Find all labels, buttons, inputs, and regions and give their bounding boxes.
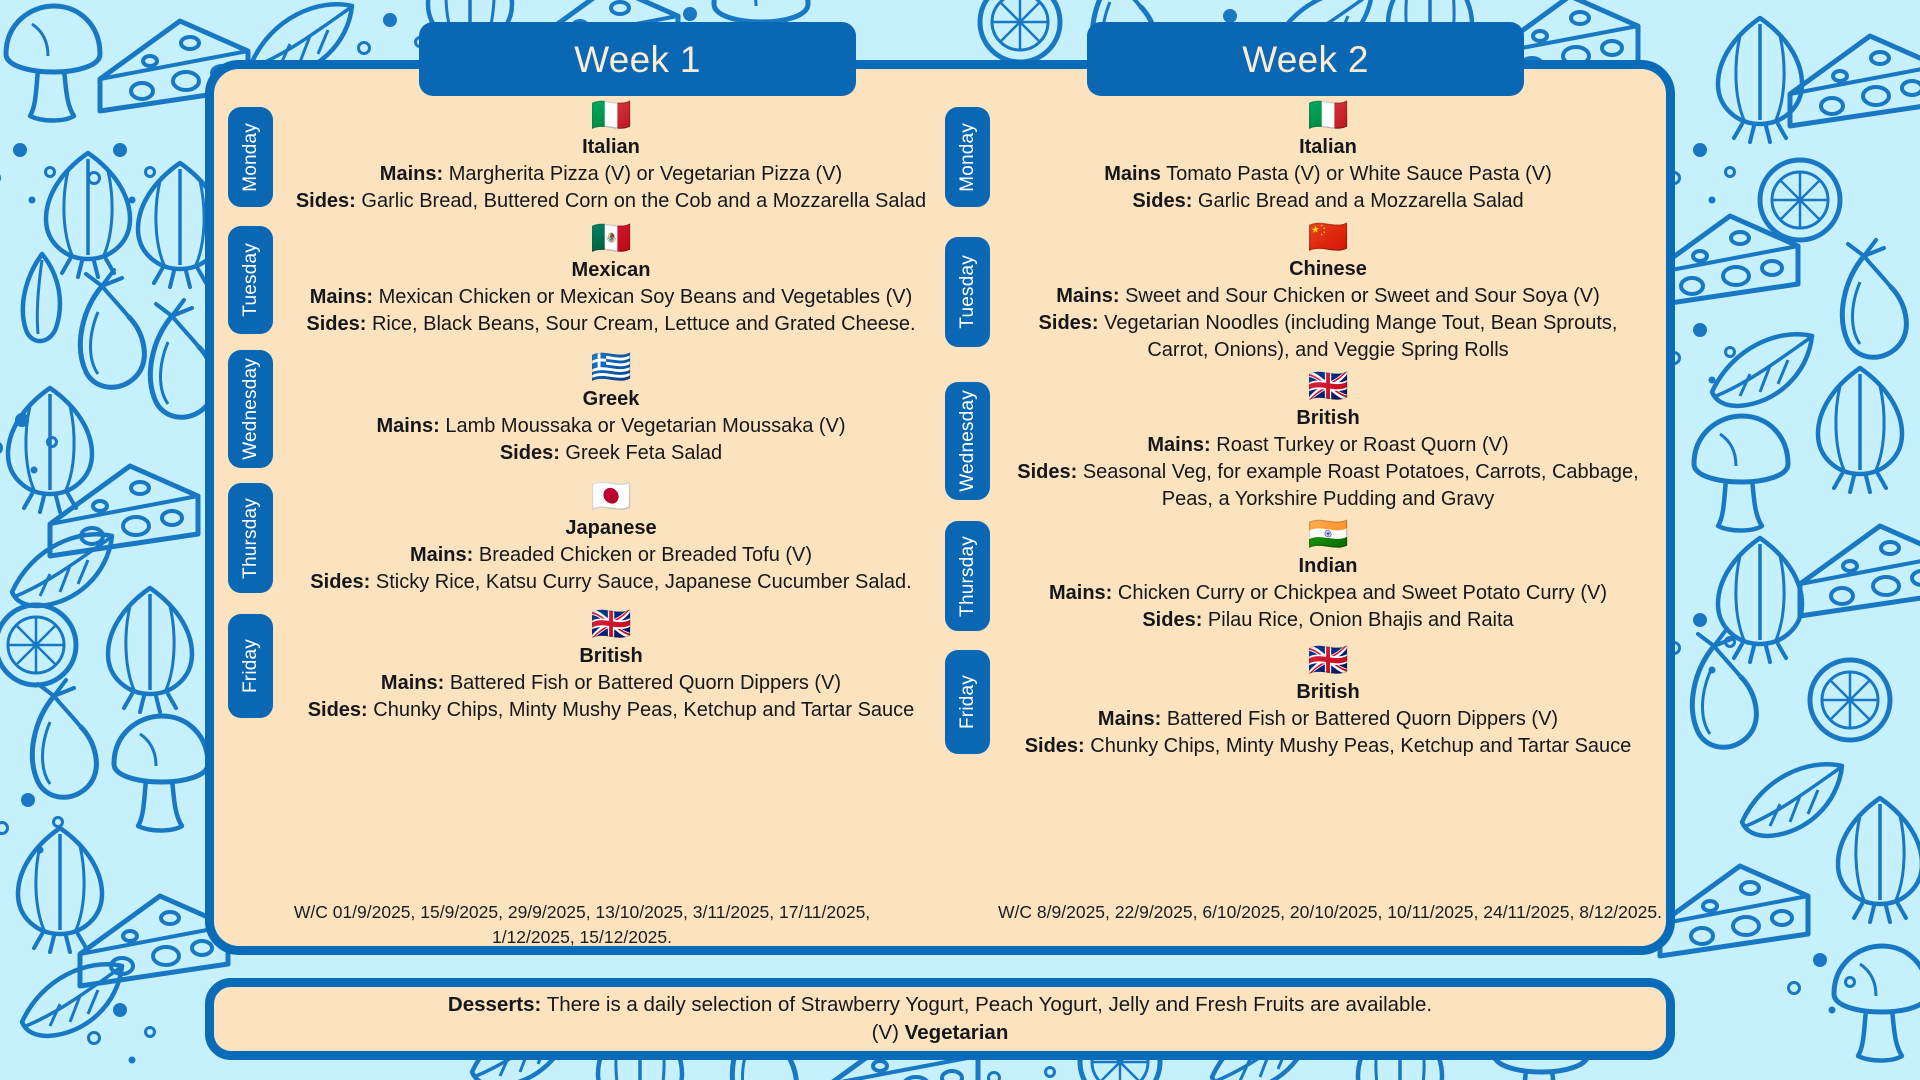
day-content-monday: 🇮🇹 Italian Mains: Margherita Pizza (V) o…: [279, 98, 943, 215]
cuisine-name: Italian: [289, 134, 933, 161]
cuisine-name: British: [1006, 405, 1650, 432]
week-1-column: Monday 🇮🇹 Italian Mains: Margherita Pizz…: [228, 98, 943, 978]
sides-label: Sides:: [1017, 461, 1077, 483]
desserts-label: Desserts:: [448, 993, 541, 1016]
sides-label: Sides:: [500, 442, 560, 464]
sides-value: Seasonal Veg, for example Roast Potatoes…: [1083, 461, 1639, 510]
flag-united-kingdom-icon: 🇬🇧: [1006, 643, 1650, 678]
sides-line: Sides: Chunky Chips, Minty Mushy Peas, K…: [289, 697, 933, 724]
week-2-dates: W/C 8/9/2025, 22/9/2025, 6/10/2025, 20/1…: [985, 900, 1675, 925]
mains-label: Mains:: [1049, 582, 1112, 604]
day-tab-thursday[interactable]: Thursday: [945, 521, 990, 631]
desserts-banner: Desserts: There is a daily selection of …: [205, 978, 1675, 1060]
mains-line: Mains: Roast Turkey or Roast Quorn (V): [1006, 432, 1650, 459]
sides-value: Garlic Bread, Buttered Corn on the Cob a…: [361, 190, 926, 212]
flag-japan-icon: 🇯🇵: [289, 479, 933, 514]
sides-value: Greek Feta Salad: [565, 442, 722, 464]
day-tab-label: Thursday: [240, 498, 262, 579]
week-1-header-tab[interactable]: Week 1: [419, 22, 856, 96]
mains-value: Lamb Moussaka or Vegetarian Moussaka (V): [445, 415, 845, 437]
flag-united-kingdom-icon: 🇬🇧: [1006, 369, 1650, 404]
desserts-text: There is a daily selection of Strawberry…: [547, 993, 1432, 1016]
flag-china-icon: 🇨🇳: [1006, 220, 1650, 255]
cuisine-name: Greek: [289, 386, 933, 413]
week-2-header-tab[interactable]: Week 2: [1087, 22, 1524, 96]
mains-label: Mains:: [381, 672, 444, 694]
week-1-title: Week 1: [574, 41, 701, 78]
sides-value: Rice, Black Beans, Sour Cream, Lettuce a…: [372, 313, 916, 335]
day-row-wednesday: Wednesday 🇬🇷 Greek Mains: Lamb Moussaka …: [228, 344, 943, 474]
vegetarian-word: Vegetarian: [905, 1021, 1009, 1044]
cuisine-name: Chinese: [1006, 256, 1650, 283]
sides-line: Sides: Sticky Rice, Katsu Curry Sauce, J…: [289, 569, 933, 596]
day-tab-label: Tuesday: [957, 255, 979, 329]
day-content-monday: 🇮🇹 Italian Mains Tomato Pasta (V) or Whi…: [996, 98, 1660, 215]
day-content-thursday: 🇯🇵 Japanese Mains: Breaded Chicken or Br…: [279, 479, 943, 596]
mains-value: Chicken Curry or Chickpea and Sweet Pota…: [1118, 582, 1607, 604]
cuisine-name: Mexican: [289, 257, 933, 284]
cuisine-name: British: [1006, 679, 1650, 706]
mains-line: Mains Tomato Pasta (V) or White Sauce Pa…: [1006, 161, 1650, 188]
sides-label: Sides:: [306, 313, 366, 335]
day-tab-label: Wednesday: [240, 358, 262, 460]
mains-line: Mains: Battered Fish or Battered Quorn D…: [1006, 706, 1650, 733]
sides-value: Garlic Bread and a Mozzarella Salad: [1198, 190, 1524, 212]
sides-label: Sides:: [1039, 312, 1099, 334]
sides-line: Sides: Pilau Rice, Onion Bhajis and Rait…: [1006, 607, 1650, 634]
day-tab-label: Friday: [240, 639, 262, 693]
mains-value: Battered Fish or Battered Quorn Dippers …: [450, 672, 841, 694]
vegetarian-key: (V) Vegetarian: [872, 1019, 1009, 1047]
day-tab-label: Monday: [240, 123, 262, 192]
mains-line: Mains: Battered Fish or Battered Quorn D…: [289, 670, 933, 697]
sides-line: Sides: Seasonal Veg, for example Roast P…: [1006, 459, 1650, 513]
sides-value: Vegetarian Noodles (including Mange Tout…: [1104, 312, 1617, 361]
sides-value: Chunky Chips, Minty Mushy Peas, Ketchup …: [373, 699, 914, 721]
sides-line: Sides: Garlic Bread and a Mozzarella Sal…: [1006, 188, 1650, 215]
day-tab-label: Thursday: [957, 536, 979, 617]
sides-label: Sides:: [1025, 735, 1085, 757]
sides-label: Sides:: [1142, 609, 1202, 631]
cuisine-name: Japanese: [289, 515, 933, 542]
sides-line: Sides: Greek Feta Salad: [289, 440, 933, 467]
sides-value: Chunky Chips, Minty Mushy Peas, Ketchup …: [1090, 735, 1631, 757]
mains-line: Mains: Chicken Curry or Chickpea and Swe…: [1006, 580, 1650, 607]
day-content-thursday: 🇮🇳 Indian Mains: Chicken Curry or Chickp…: [996, 517, 1660, 634]
sides-label: Sides:: [310, 571, 370, 593]
mains-label: Mains:: [410, 544, 473, 566]
mains-value: Roast Turkey or Roast Quorn (V): [1216, 434, 1508, 456]
day-content-tuesday: 🇲🇽 Mexican Mains: Mexican Chicken or Mex…: [279, 221, 943, 338]
sides-line: Sides: Vegetarian Noodles (including Man…: [1006, 310, 1650, 364]
cuisine-name: Italian: [1006, 134, 1650, 161]
flag-greece-icon: 🇬🇷: [289, 350, 933, 385]
mains-label: Mains:: [376, 415, 439, 437]
mains-label: Mains: [1104, 163, 1161, 185]
sides-value: Sticky Rice, Katsu Curry Sauce, Japanese…: [376, 571, 912, 593]
mains-line: Mains: Mexican Chicken or Mexican Soy Be…: [289, 284, 933, 311]
vegetarian-symbol: (V): [872, 1021, 899, 1044]
mains-line: Mains: Lamb Moussaka or Vegetarian Mouss…: [289, 413, 933, 440]
mains-label: Mains:: [310, 286, 373, 308]
day-tab-label: Monday: [957, 123, 979, 192]
day-content-wednesday: 🇬🇷 Greek Mains: Lamb Moussaka or Vegetar…: [279, 350, 943, 467]
sides-line: Sides: Rice, Black Beans, Sour Cream, Le…: [289, 311, 933, 338]
day-content-wednesday: 🇬🇧 British Mains: Roast Turkey or Roast …: [996, 369, 1660, 513]
day-tab-label: Friday: [957, 675, 979, 729]
mains-line: Mains: Margherita Pizza (V) or Vegetaria…: [289, 161, 933, 188]
day-row-friday: Friday 🇬🇧 British Mains: Battered Fish o…: [228, 602, 943, 730]
day-row-friday: Friday 🇬🇧 British Mains: Battered Fish o…: [945, 638, 1660, 766]
day-row-thursday: Thursday 🇮🇳 Indian Mains: Chicken Curry …: [945, 514, 1660, 638]
flag-italy-icon: 🇮🇹: [1006, 98, 1650, 133]
flag-italy-icon: 🇮🇹: [289, 98, 933, 133]
day-tab-label: Tuesday: [240, 243, 262, 317]
day-tab-wednesday[interactable]: Wednesday: [228, 350, 273, 468]
sides-line: Sides: Garlic Bread, Buttered Corn on th…: [289, 188, 933, 215]
day-tab-tuesday[interactable]: Tuesday: [228, 226, 273, 334]
day-content-friday: 🇬🇧 British Mains: Battered Fish or Batte…: [279, 607, 943, 724]
day-tab-thursday[interactable]: Thursday: [228, 483, 273, 593]
mains-value: Breaded Chicken or Breaded Tofu (V): [479, 544, 812, 566]
mains-label: Mains:: [1056, 285, 1119, 307]
mains-line: Mains: Breaded Chicken or Breaded Tofu (…: [289, 542, 933, 569]
mains-label: Mains:: [1098, 708, 1161, 730]
mains-line: Mains: Sweet and Sour Chicken or Sweet a…: [1006, 283, 1650, 310]
day-row-monday: Monday 🇮🇹 Italian Mains: Margherita Pizz…: [228, 98, 943, 216]
day-tab-friday[interactable]: Friday: [945, 650, 990, 754]
flag-india-icon: 🇮🇳: [1006, 517, 1650, 552]
day-tab-tuesday[interactable]: Tuesday: [945, 237, 990, 347]
mains-value: Battered Fish or Battered Quorn Dippers …: [1167, 708, 1558, 730]
day-tab-wednesday[interactable]: Wednesday: [945, 382, 990, 500]
cuisine-name: British: [289, 643, 933, 670]
day-tab-friday[interactable]: Friday: [228, 614, 273, 718]
sides-label: Sides:: [1132, 190, 1192, 212]
sides-label: Sides:: [296, 190, 356, 212]
mains-label: Mains:: [380, 163, 443, 185]
mains-value: Margherita Pizza (V) or Vegetarian Pizza…: [449, 163, 843, 185]
day-tab-label: Wednesday: [957, 390, 979, 492]
week-2-title: Week 2: [1242, 41, 1369, 78]
sides-line: Sides: Chunky Chips, Minty Mushy Peas, K…: [1006, 733, 1650, 760]
day-tab-monday[interactable]: Monday: [228, 107, 273, 207]
flag-united-kingdom-icon: 🇬🇧: [289, 607, 933, 642]
day-row-wednesday: Wednesday 🇬🇧 British Mains: Roast Turkey…: [945, 368, 1660, 514]
sides-value: Pilau Rice, Onion Bhajis and Raita: [1208, 609, 1514, 631]
mains-label: Mains:: [1147, 434, 1210, 456]
day-row-tuesday: Tuesday 🇲🇽 Mexican Mains: Mexican Chicke…: [228, 216, 943, 344]
day-row-thursday: Thursday 🇯🇵 Japanese Mains: Breaded Chic…: [228, 474, 943, 602]
day-content-tuesday: 🇨🇳 Chinese Mains: Sweet and Sour Chicken…: [996, 220, 1660, 364]
flag-mexico-icon: 🇲🇽: [289, 221, 933, 256]
mains-value: Tomato Pasta (V) or White Sauce Pasta (V…: [1166, 163, 1552, 185]
cuisine-name: Indian: [1006, 553, 1650, 580]
mains-value: Mexican Chicken or Mexican Soy Beans and…: [379, 286, 913, 308]
mains-value: Sweet and Sour Chicken or Sweet and Sour…: [1125, 285, 1600, 307]
day-tab-monday[interactable]: Monday: [945, 107, 990, 207]
day-row-tuesday: Tuesday 🇨🇳 Chinese Mains: Sweet and Sour…: [945, 216, 1660, 368]
desserts-line: Desserts: There is a daily selection of …: [448, 991, 1432, 1019]
day-row-monday: Monday 🇮🇹 Italian Mains Tomato Pasta (V)…: [945, 98, 1660, 216]
week-1-dates: W/C 01/9/2025, 15/9/2025, 29/9/2025, 13/…: [262, 900, 902, 950]
week-2-column: Monday 🇮🇹 Italian Mains Tomato Pasta (V)…: [945, 98, 1660, 978]
day-content-friday: 🇬🇧 British Mains: Battered Fish or Batte…: [996, 643, 1660, 760]
sides-label: Sides:: [308, 699, 368, 721]
